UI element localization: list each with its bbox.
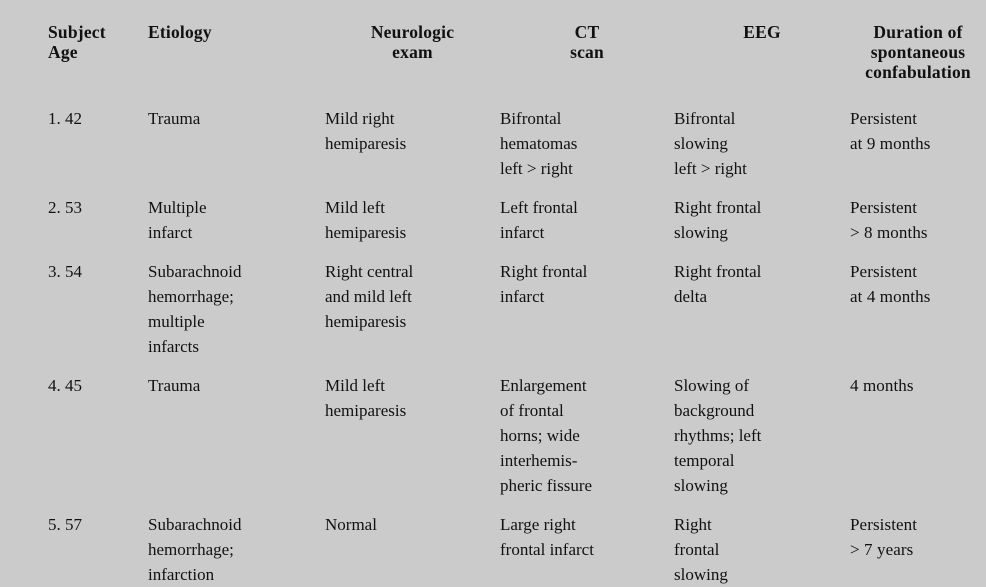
cell-line: Mild left [325,195,500,220]
cell-line: Bifrontal [674,106,850,131]
cell-line: infarcts [148,334,325,359]
cell-subject-age: 4. 45 [48,359,148,498]
cell-etiology: Trauma [148,359,325,498]
cell-line: 1. 42 [48,106,148,131]
cell-subject-age: 1. 42 [48,82,148,181]
cell-line: Left frontal [500,195,674,220]
cell-line: infarct [148,220,325,245]
cell-line: Persistent [850,106,986,131]
cell-line: Persistent [850,259,986,284]
cell-line: hemiparesis [325,309,500,334]
cell-line: of frontal [500,398,674,423]
cell-line: Right central [325,259,500,284]
cell-line: slowing [674,562,850,587]
table-body: 1. 42 Trauma Mild right hemiparesis Bifr… [0,82,986,587]
cell-line: Normal [325,512,500,537]
column-header-neurologic-exam: Neurologic exam [325,0,500,82]
column-header-eeg: EEG [674,0,850,82]
cell-eeg: Right frontal slowing [674,498,850,587]
cell-duration: Persistent at 9 months [850,82,986,181]
column-header-duration: Duration of spontaneous confabulation [850,0,986,82]
cell-etiology: Subarachnoid hemorrhage; multiple infarc… [148,245,325,359]
cell-etiology: Trauma [148,82,325,181]
table-row: 1. 42 Trauma Mild right hemiparesis Bifr… [0,82,986,181]
cell-line: Slowing of [674,373,850,398]
cell-eeg: Right frontal slowing [674,181,850,245]
cell-neurologic-exam: Mild left hemiparesis [325,359,500,498]
cell-line: delta [674,284,850,309]
cell-line: Trauma [148,106,325,131]
header-line: Subject [48,22,148,42]
cell-ct-scan: Left frontal infarct [500,181,674,245]
cell-duration: 4 months [850,359,986,498]
cell-line: infarct [500,284,674,309]
table-row: 3. 54 Subarachnoid hemorrhage; multiple … [0,245,986,359]
row-spacer [0,82,48,181]
cell-line: 2. 53 [48,195,148,220]
header-line: Etiology [148,22,325,42]
cell-line: slowing [674,220,850,245]
cell-line: frontal [674,537,850,562]
cell-line: rhythms; left [674,423,850,448]
cell-line: hemorrhage; [148,537,325,562]
cell-neurologic-exam: Right central and mild left hemiparesis [325,245,500,359]
cell-line: left > right [674,156,850,181]
cell-subject-age: 2. 53 [48,181,148,245]
cell-line: Persistent [850,195,986,220]
cell-line: Mild left [325,373,500,398]
cell-line: Large right [500,512,674,537]
cell-eeg: Right frontal delta [674,245,850,359]
cell-line: left > right [500,156,674,181]
cell-subject-age: 3. 54 [48,245,148,359]
cell-line: pheric fissure [500,473,674,498]
header-line: spontaneous [850,42,986,62]
header-line: EEG [674,22,850,42]
cell-line: interhemis- [500,448,674,473]
cell-subject-age: 5. 57 [48,498,148,587]
cell-line: Bifrontal [500,106,674,131]
cell-duration: Persistent > 8 months [850,181,986,245]
header-line: exam [325,42,500,62]
header-line: Age [48,42,148,62]
header-spacer [0,0,48,82]
cell-line: Right frontal [674,259,850,284]
cell-line: hematomas [500,131,674,156]
cell-line: Right frontal [674,195,850,220]
cell-duration: Persistent at 4 months [850,245,986,359]
cell-line: Enlargement [500,373,674,398]
column-header-subject-age: Subject Age [48,0,148,82]
table-header: Subject Age Etiology Neurologic exam CT … [0,0,986,82]
header-line: CT [500,22,674,42]
cell-duration: Persistent > 7 years [850,498,986,587]
cell-line: slowing [674,473,850,498]
cell-line: and mild left [325,284,500,309]
cell-line: at 9 months [850,131,986,156]
cell-line: 3. 54 [48,259,148,284]
table-row: 2. 53 Multiple infarct Mild left hemipar… [0,181,986,245]
cell-line: hemiparesis [325,220,500,245]
row-spacer [0,245,48,359]
header-line: scan [500,42,674,62]
cell-eeg: Slowing of background rhythms; left temp… [674,359,850,498]
cell-line: 5. 57 [48,512,148,537]
table-row: 5. 57 Subarachnoid hemorrhage; infarctio… [0,498,986,587]
cell-neurologic-exam: Normal [325,498,500,587]
cell-neurologic-exam: Mild left hemiparesis [325,181,500,245]
header-line: Neurologic [325,22,500,42]
cell-eeg: Bifrontal slowing left > right [674,82,850,181]
cell-line: slowing [674,131,850,156]
cell-line: multiple [148,309,325,334]
header-line: Duration of [850,22,986,42]
cell-line: Subarachnoid [148,259,325,284]
cell-line: horns; wide [500,423,674,448]
cell-line: hemorrhage; [148,284,325,309]
cell-line: Right [674,512,850,537]
cell-line: 4 months [850,373,986,398]
cell-line: > 7 years [850,537,986,562]
cell-line: infarction [148,562,325,587]
column-header-ct-scan: CT scan [500,0,674,82]
header-line: confabulation [850,62,986,82]
column-header-etiology: Etiology [148,0,325,82]
cell-line: infarct [500,220,674,245]
cell-line: > 8 months [850,220,986,245]
cell-ct-scan: Enlargement of frontal horns; wide inter… [500,359,674,498]
cell-line: Trauma [148,373,325,398]
cell-line: 4. 45 [48,373,148,398]
cell-line: Mild right [325,106,500,131]
clinical-data-table: Subject Age Etiology Neurologic exam CT … [0,0,986,587]
cell-ct-scan: Bifrontal hematomas left > right [500,82,674,181]
cell-line: frontal infarct [500,537,674,562]
cell-line: at 4 months [850,284,986,309]
cell-line: temporal [674,448,850,473]
row-spacer [0,359,48,498]
cell-etiology: Multiple infarct [148,181,325,245]
cell-etiology: Subarachnoid hemorrhage; infarction [148,498,325,587]
table-row: 4. 45 Trauma Mild left hemiparesis Enlar… [0,359,986,498]
cell-ct-scan: Large right frontal infarct [500,498,674,587]
cell-line: background [674,398,850,423]
cell-line: Right frontal [500,259,674,284]
cell-line: Multiple [148,195,325,220]
cell-line: Persistent [850,512,986,537]
cell-ct-scan: Right frontal infarct [500,245,674,359]
row-spacer [0,181,48,245]
cell-line: hemiparesis [325,398,500,423]
table-header-row: Subject Age Etiology Neurologic exam CT … [0,0,986,82]
cell-neurologic-exam: Mild right hemiparesis [325,82,500,181]
cell-line: hemiparesis [325,131,500,156]
table-container: Subject Age Etiology Neurologic exam CT … [0,0,986,531]
cell-line: Subarachnoid [148,512,325,537]
row-spacer [0,498,48,587]
